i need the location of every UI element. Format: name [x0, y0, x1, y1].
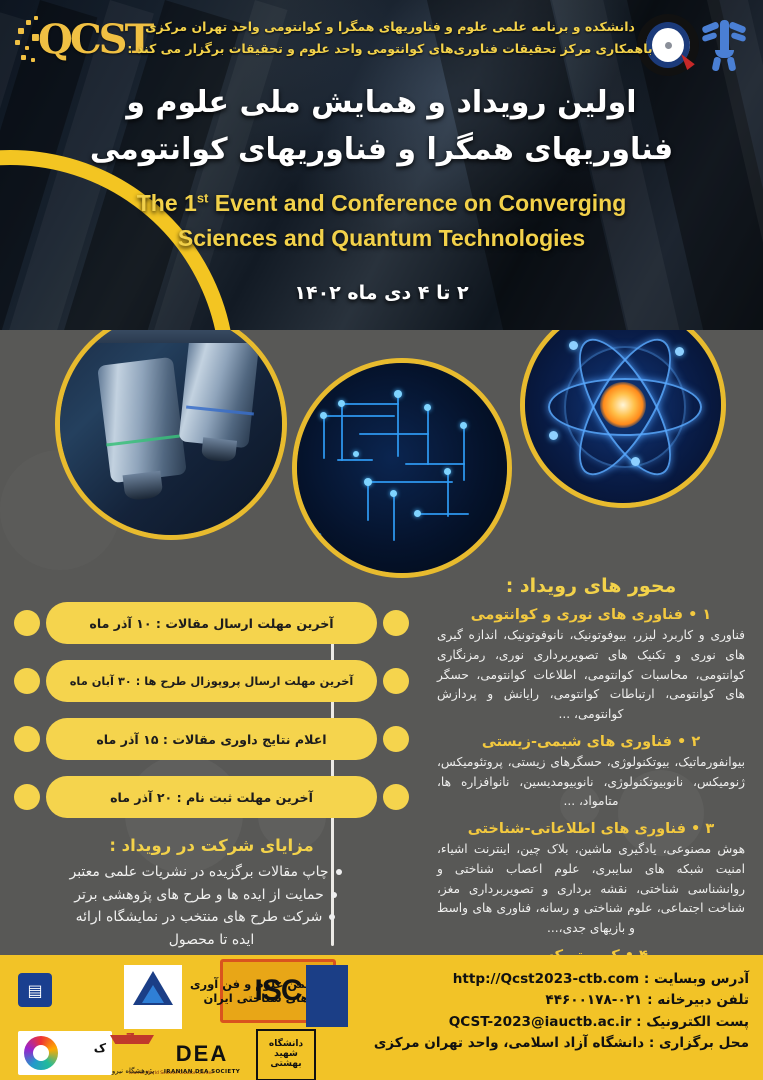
topic-title: ۱ • فناوری های نوری و کوانتومی	[431, 607, 751, 623]
deadline-pill: اعلام نتایج داوری مقالات : ۱۵ آذر ماه	[46, 718, 377, 760]
topic-item: ۱ • فناوری های نوری و کوانتومی فناوری و …	[431, 607, 751, 725]
bullet-icon	[331, 892, 337, 898]
benefit-item: چاپ مقالات برگزیده در نشریات علمی معتبر	[18, 861, 393, 884]
topic-item: ۲ • فناوری های شیمی-زیستی بیوانفورماتیک،…	[431, 734, 751, 812]
deadline-pill: آخرین مهلت ثبت نام : ۲۰ آذر ماه	[46, 776, 377, 818]
microscope-photo-circle	[55, 330, 287, 540]
english-title-line-2: Sciences and Quantum Technologies	[0, 221, 763, 256]
shahid-beheshti-text: دانشگاه شهید بهشتی	[258, 1040, 314, 1070]
rainbow-institute-logo: ک	[18, 1031, 112, 1075]
organizer-lines: دانشکده و برنامه علمی علوم و فناوریهای ه…	[125, 16, 655, 60]
book-glyph: ▤	[27, 981, 42, 1000]
university-triangle-logo	[124, 965, 182, 1029]
email-row: پست الکترونیک : QCST-2023@iauctb.ac.ir	[359, 1012, 749, 1033]
deadline-row: آخرین مهلت ثبت نام : ۲۰ آذر ماه	[14, 774, 409, 820]
benefits-list: چاپ مقالات برگزیده در نشریات علمی معتبر …	[14, 861, 409, 929]
benefit-item: حمایت از ایده ها و طرح های پژوهشی برتر	[18, 884, 393, 907]
persian-title-line-1: اولین رویداد و همایش ملی علوم و	[0, 80, 763, 127]
triangle-logo-caption	[124, 1021, 182, 1026]
benefits-heading: مزایای شرکت در رویداد :	[14, 836, 409, 855]
azad-university-logo	[701, 10, 747, 84]
venue-label: محل برگزاری :	[649, 1035, 749, 1051]
venue-row: محل برگزاری : دانشگاه آزاد اسلامی، واحد …	[359, 1033, 749, 1054]
dea-logo-subtitle: IRANIAN DEA SOCIETY	[154, 1069, 250, 1075]
pill-dot-icon	[14, 784, 40, 810]
bullet-icon	[336, 869, 342, 875]
english-title-line-1: The 1st Event and Conference on Convergi…	[0, 186, 763, 221]
organizer-line-2: باهمکاری مرکز تحقیقات فناوری‌های کوانتوم…	[125, 38, 655, 60]
phone-number: ۰۲۱-۴۴۶۰۰۱۷۸	[545, 992, 642, 1008]
website-label: آدرس وبسایت :	[644, 971, 749, 987]
deadline-row: آخرین مهلت ارسال مقالات : ۱۰ آذر ماه	[14, 600, 409, 646]
triangle-inner-icon	[142, 985, 164, 1003]
deadline-row: آخرین مهلت ارسال پروپوزال طرح ها : ۳۰ آب…	[14, 658, 409, 704]
dea-society-logo: DEA IRANIAN DEA SOCIETY	[154, 1033, 250, 1075]
pill-dot-icon	[14, 726, 40, 752]
topic-item: ۳ • فناوری های اطلاعاتی-شناختی هوش مصنوع…	[431, 821, 751, 939]
dea-logo-text: DEA	[176, 1041, 228, 1067]
website-url[interactable]: http://Qcst2023-ctb.com	[453, 969, 639, 990]
university-blue-logo	[306, 965, 348, 1027]
shahid-beheshti-logo: دانشگاه شهید بهشتی	[256, 1029, 316, 1080]
english-title-ordinal-suffix: st	[197, 190, 209, 205]
event-date: ۲ تا ۴ دی ماه ۱۴۰۲	[0, 282, 763, 304]
bullet-icon	[329, 914, 335, 920]
benefit-continuation: ایده تا محصول	[14, 929, 409, 952]
english-title: The 1st Event and Conference on Convergi…	[0, 186, 763, 255]
topic-body: هوش مصنوعی، یادگیری ماشین، بلاک چین، این…	[437, 840, 745, 939]
sponsor-logos: ISC Islamic World Science Citation Cente…	[6, 959, 336, 1077]
lightning-icon: Ƶ	[126, 1031, 135, 1045]
atom-photo-circle	[520, 330, 726, 508]
topic-title: ۲ • فناوری های شیمی-زیستی	[431, 734, 751, 750]
pill-dot-icon	[14, 668, 40, 694]
contact-info: آدرس وبسایت : http://Qcst2023-ctb.com تل…	[359, 969, 749, 1055]
benefit-item: شرکت طرح های منتخب در نمایشگاه ارائه	[18, 906, 393, 929]
topic-body: فناوری و کاربرد لیزر، بیوفوتونیک، نانوفو…	[437, 626, 745, 725]
ai-brain-photo-circle: 0110010010011001	[292, 358, 512, 578]
email-label: پست الکترونیک :	[636, 1014, 749, 1030]
topic-title: ۳ • فناوری های اطلاعاتی-شناختی	[431, 821, 751, 837]
atom-nucleus	[600, 382, 646, 428]
benefit-text: چاپ مقالات برگزیده در نشریات علمی معتبر	[69, 864, 328, 880]
benefit-text: شرکت طرح های منتخب در نمایشگاه ارائه	[76, 909, 323, 925]
persian-title: اولین رویداد و همایش ملی علوم و فناوریها…	[0, 80, 763, 173]
deadline-pill: آخرین مهلت ارسال مقالات : ۱۰ آذر ماه	[46, 602, 377, 644]
pill-dot-icon	[383, 726, 409, 752]
conference-poster: QCST دانشکده و برنامه علمی علوم و فناوری…	[0, 0, 763, 1080]
institute-mark: ک	[94, 1041, 106, 1055]
pill-dot-icon	[383, 610, 409, 636]
phone-row: تلفن دبیرخانه : ۰۲۱-۴۴۶۰۰۱۷۸	[359, 990, 749, 1011]
binary-digits: 0110010010011001	[305, 532, 322, 567]
pill-dot-icon	[383, 668, 409, 694]
venue-value: دانشگاه آزاد اسلامی، واحد تهران مرکزی	[374, 1035, 644, 1051]
topics-column: محور های رویداد : ۱ • فناوری های نوری و …	[431, 575, 751, 987]
phone-label: تلفن دبیرخانه :	[647, 992, 749, 1008]
english-title-ordinal-pre: The 1	[137, 190, 197, 216]
persian-title-line-2: فناوریهای همگرا و فناوریهای کوانتومی	[0, 127, 763, 174]
pill-dot-icon	[14, 610, 40, 636]
power-research-caption: پژوهشگاه نیرو	[110, 1067, 156, 1075]
deadline-pill: آخرین مهلت ارسال پروپوزال طرح ها : ۳۰ آب…	[46, 660, 377, 702]
website-row: آدرس وبسایت : http://Qcst2023-ctb.com	[359, 969, 749, 990]
organizer-line-1: دانشکده و برنامه علمی علوم و فناوریهای ه…	[125, 16, 655, 38]
topic-body: بیوانفورماتیک، بیوتکنولوژی، حسگرهای زیست…	[437, 753, 745, 812]
poster-footer: ISC Islamic World Science Citation Cente…	[0, 955, 763, 1080]
benefit-text: حمایت از ایده ها و طرح های پژوهشی برتر	[74, 887, 323, 903]
deadline-row: اعلام نتایج داوری مقالات : ۱۵ آذر ماه	[14, 716, 409, 762]
qcst-logo: QCST	[12, 10, 132, 72]
email-address[interactable]: QCST-2023@iauctb.ac.ir	[449, 1012, 632, 1033]
deadlines-column: آخرین مهلت ارسال مقالات : ۱۰ آذر ماه آخر…	[14, 600, 409, 952]
pill-dot-icon	[383, 784, 409, 810]
rainbow-inner-icon	[33, 1045, 49, 1061]
power-research-logo: Ƶ پژوهشگاه نیرو	[110, 1031, 156, 1075]
topics-heading: محور های رویداد :	[431, 575, 751, 597]
english-title-rest: Event and Conference on Converging	[215, 190, 627, 216]
website-book-icon: ▤	[18, 973, 52, 1007]
